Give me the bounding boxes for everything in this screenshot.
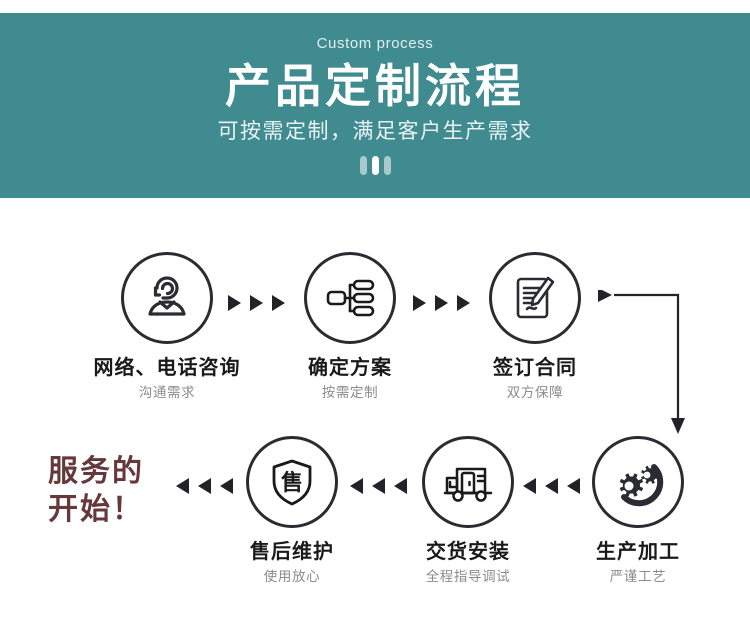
step-title: 生产加工	[543, 541, 733, 563]
arrow-left-icon	[523, 478, 536, 494]
arrow-left-icon	[176, 478, 189, 494]
arrow-right-icon	[228, 295, 241, 311]
page-title: 产品定制流程	[225, 62, 525, 112]
flow-connector-elbow	[598, 290, 698, 445]
step-delivery[interactable]: 交货安装 全程指导调试	[373, 436, 563, 585]
arrow-left-icon	[350, 478, 363, 494]
service-start-line1: 服务的	[48, 453, 144, 491]
banner-eyebrow: Custom process	[317, 36, 434, 51]
step-subtitle: 严谨工艺	[543, 570, 733, 585]
decor-bar-middle	[372, 156, 379, 175]
step-title: 网络、电话咨询	[72, 357, 262, 379]
banner-subtitle: 可按需定制，满足客户生产需求	[218, 121, 533, 142]
step-subtitle: 按需定制	[255, 386, 445, 401]
step-subtitle: 使用放心	[197, 570, 387, 585]
step-title: 交货安装	[373, 541, 563, 563]
page-header-banner: Custom process 产品定制流程 可按需定制，满足客户生产需求	[0, 13, 750, 198]
service-start-line2: 开始！	[48, 491, 144, 529]
banner-decor-bars	[360, 156, 391, 175]
step-plan[interactable]: 确定方案 按需定制	[255, 252, 445, 401]
shield-aftersales-icon: 售	[246, 436, 338, 528]
process-flow-diagram: 网络、电话咨询 沟通需求 确定方案 按需定制	[0, 198, 750, 630]
step-subtitle: 全程指导调试	[373, 570, 563, 585]
flowchart-icon	[304, 252, 396, 344]
arrow-right-icon	[413, 295, 426, 311]
step-aftersales[interactable]: 售 售后维护 使用放心	[197, 436, 387, 585]
decor-bar-right	[384, 156, 391, 175]
step-title: 售后维护	[197, 541, 387, 563]
contract-pen-icon	[489, 252, 581, 344]
step-subtitle: 沟通需求	[72, 386, 262, 401]
service-start-headline: 服务的 开始！	[48, 453, 144, 530]
headset-person-icon	[121, 252, 213, 344]
step-consultation[interactable]: 网络、电话咨询 沟通需求	[72, 252, 262, 401]
delivery-truck-icon	[422, 436, 514, 528]
step-title: 确定方案	[255, 357, 445, 379]
step-production[interactable]: 生产加工 严谨工艺	[543, 436, 733, 585]
decor-bar-left	[360, 156, 367, 175]
gears-icon	[592, 436, 684, 528]
shield-glyph: 售	[281, 470, 303, 495]
